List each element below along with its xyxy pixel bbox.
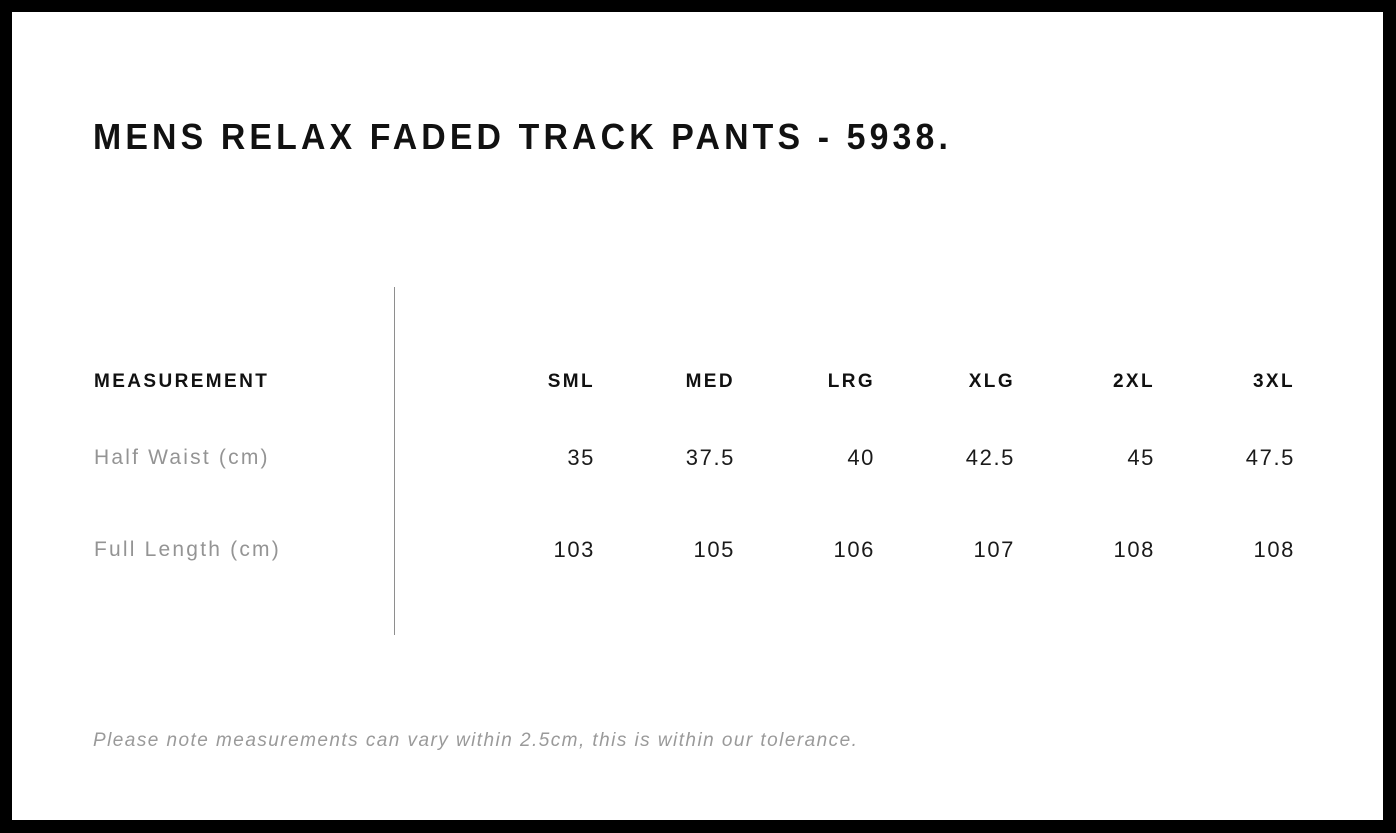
cell-half-waist-3xl: 47.5	[1163, 412, 1303, 504]
cell-full-length-lrg: 106	[743, 504, 883, 596]
column-header-lrg: LRG	[743, 352, 883, 412]
table-header-row: MEASUREMENT SML MED LRG XLG 2XL 3XL	[93, 352, 1303, 412]
cell-half-waist-med: 37.5	[603, 412, 743, 504]
column-header-med: MED	[603, 352, 743, 412]
cell-half-waist-sml: 35	[463, 412, 603, 504]
table-row: Half Waist (cm) 35 37.5 40 42.5 45 47.5	[93, 412, 1303, 504]
row-label-half-waist: Half Waist (cm)	[93, 412, 463, 504]
size-chart-card: MENS RELAX FADED TRACK PANTS - 5938. MEA…	[12, 12, 1383, 820]
cell-full-length-med: 105	[603, 504, 743, 596]
row-label-full-length: Full Length (cm)	[93, 504, 463, 596]
cell-half-waist-xlg: 42.5	[883, 412, 1023, 504]
size-chart-table: MEASUREMENT SML MED LRG XLG 2XL 3XL Half…	[93, 352, 1303, 596]
cell-half-waist-lrg: 40	[743, 412, 883, 504]
page-title: MENS RELAX FADED TRACK PANTS - 5938.	[93, 116, 952, 158]
column-header-measurement: MEASUREMENT	[93, 352, 463, 412]
column-header-2xl: 2XL	[1023, 352, 1163, 412]
cell-full-length-xlg: 107	[883, 504, 1023, 596]
column-header-sml: SML	[463, 352, 603, 412]
cell-full-length-sml: 103	[463, 504, 603, 596]
cell-full-length-3xl: 108	[1163, 504, 1303, 596]
column-header-3xl: 3XL	[1163, 352, 1303, 412]
table-row: Full Length (cm) 103 105 106 107 108 108	[93, 504, 1303, 596]
cell-full-length-2xl: 108	[1023, 504, 1163, 596]
size-chart-frame: MENS RELAX FADED TRACK PANTS - 5938. MEA…	[0, 0, 1396, 833]
cell-half-waist-2xl: 45	[1023, 412, 1163, 504]
column-header-xlg: XLG	[883, 352, 1023, 412]
tolerance-note: Please note measurements can vary within…	[93, 730, 858, 752]
